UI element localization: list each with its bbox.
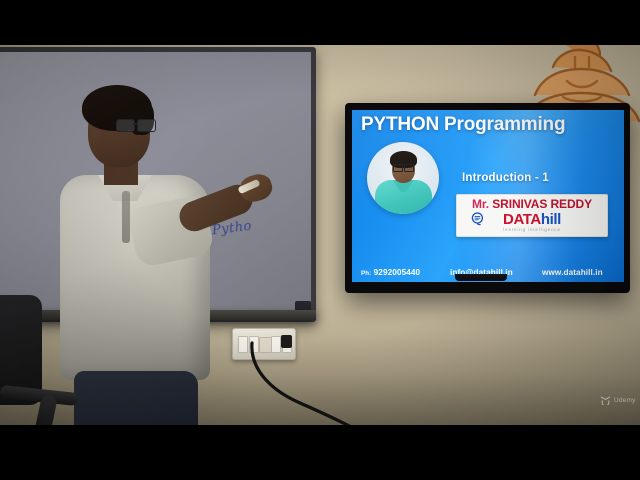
udemy-watermark-text: Udemy: [614, 397, 636, 404]
video-frame: N O → Pytho: [0, 0, 640, 480]
classroom-photo: N O → Pytho: [0, 45, 640, 425]
udemy-logo-icon: [600, 396, 611, 405]
letterbox-top: [0, 0, 640, 45]
letterbox-bottom: [0, 425, 640, 480]
photo-vignette: [0, 45, 640, 425]
udemy-watermark: Udemy: [600, 396, 636, 405]
